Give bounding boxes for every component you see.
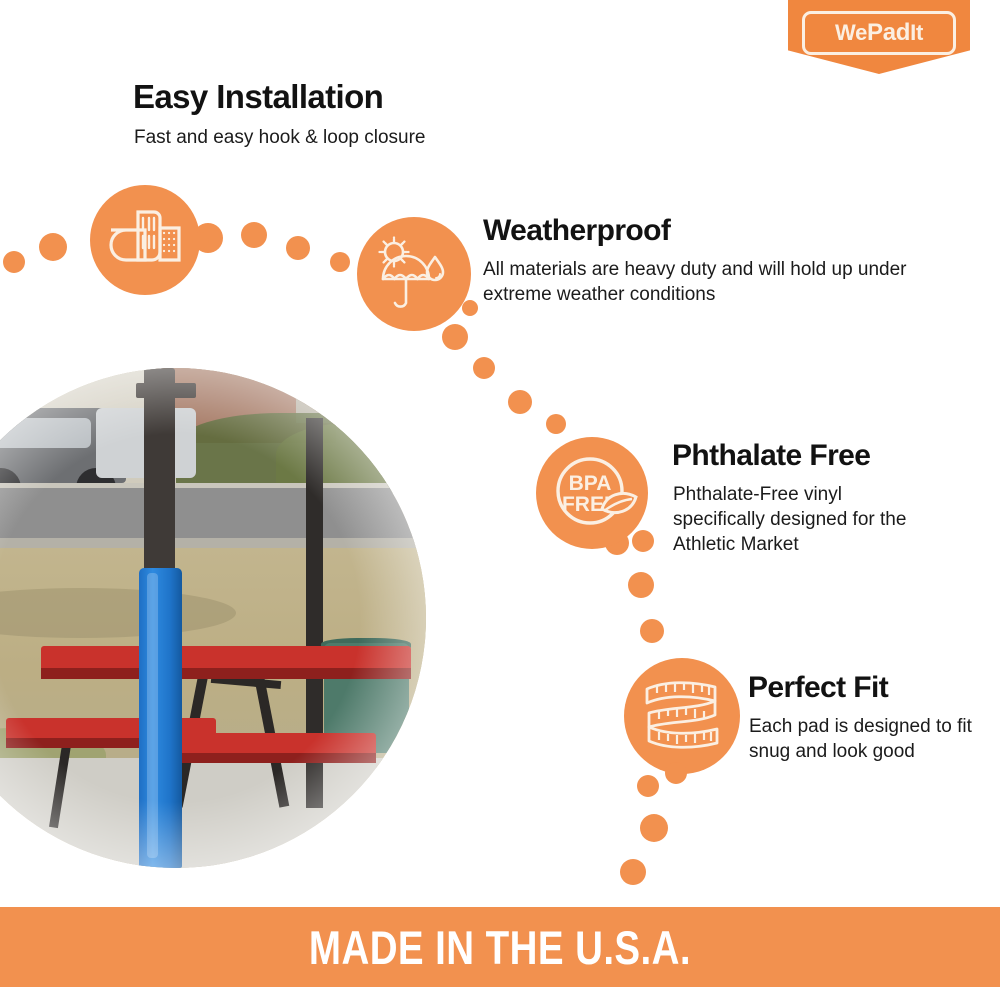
made-in-usa-text: MADE IN THE U.S.A. — [309, 924, 691, 971]
feature-description-weatherproof: All materials are heavy duty and will ho… — [483, 257, 913, 307]
bpa-icon-line1: BPA — [569, 472, 612, 495]
brand-logo[interactable]: WePadIt — [788, 0, 970, 74]
trail-dot — [241, 222, 267, 248]
measuring-tape-icon — [624, 658, 740, 774]
logo-word-pad: Pad — [867, 19, 910, 46]
trail-dot — [442, 324, 468, 350]
bubble-accent-dot — [192, 232, 209, 249]
logo-word-we: We — [835, 20, 867, 45]
trail-dot — [546, 414, 566, 434]
made-in-usa-banner: MADE IN THE U.S.A. — [0, 907, 1000, 987]
logo-outline-box: WePadIt — [802, 11, 956, 55]
bubble-accent-dot — [632, 530, 654, 552]
product-photo — [0, 368, 426, 868]
trail-dot — [640, 619, 664, 643]
bubble-accent-dot — [665, 762, 687, 784]
feature-title-weatherproof: Weatherproof — [483, 215, 670, 247]
feature-title-easy-installation: Easy Installation — [133, 80, 383, 115]
trail-dot — [640, 814, 668, 842]
trail-dot — [3, 251, 25, 273]
feature-title-perfect-fit: Perfect Fit — [748, 672, 888, 704]
feature-description-phthalate-free: Phthalate-Free vinyl specifically design… — [673, 482, 938, 557]
bubble-accent-dot — [462, 300, 478, 316]
feature-title-phthalate-free: Phthalate Free — [672, 440, 870, 472]
feature-description-easy-installation: Fast and easy hook & loop closure — [134, 125, 564, 150]
photo-vignette — [0, 368, 426, 868]
logo-wordmark: WePadIt — [835, 21, 923, 45]
sun-umbrella-rain-icon — [357, 217, 471, 331]
feature-description-perfect-fit: Each pad is designed to fit snug and loo… — [749, 714, 979, 764]
trail-dot — [620, 859, 646, 885]
trail-dot — [628, 572, 654, 598]
trail-dot — [39, 233, 67, 261]
trail-dot — [473, 357, 495, 379]
trail-dot — [286, 236, 310, 260]
trail-dot — [637, 775, 659, 797]
logo-word-it: It — [910, 20, 923, 45]
hook-and-loop-strap-icon — [90, 185, 200, 295]
trail-dot — [330, 252, 350, 272]
trail-dot — [508, 390, 532, 414]
infographic-page: WePadIt Easy Installation Fast and easy … — [0, 0, 1000, 987]
bpa-free-leaf-icon: BPA FREE — [536, 437, 648, 549]
